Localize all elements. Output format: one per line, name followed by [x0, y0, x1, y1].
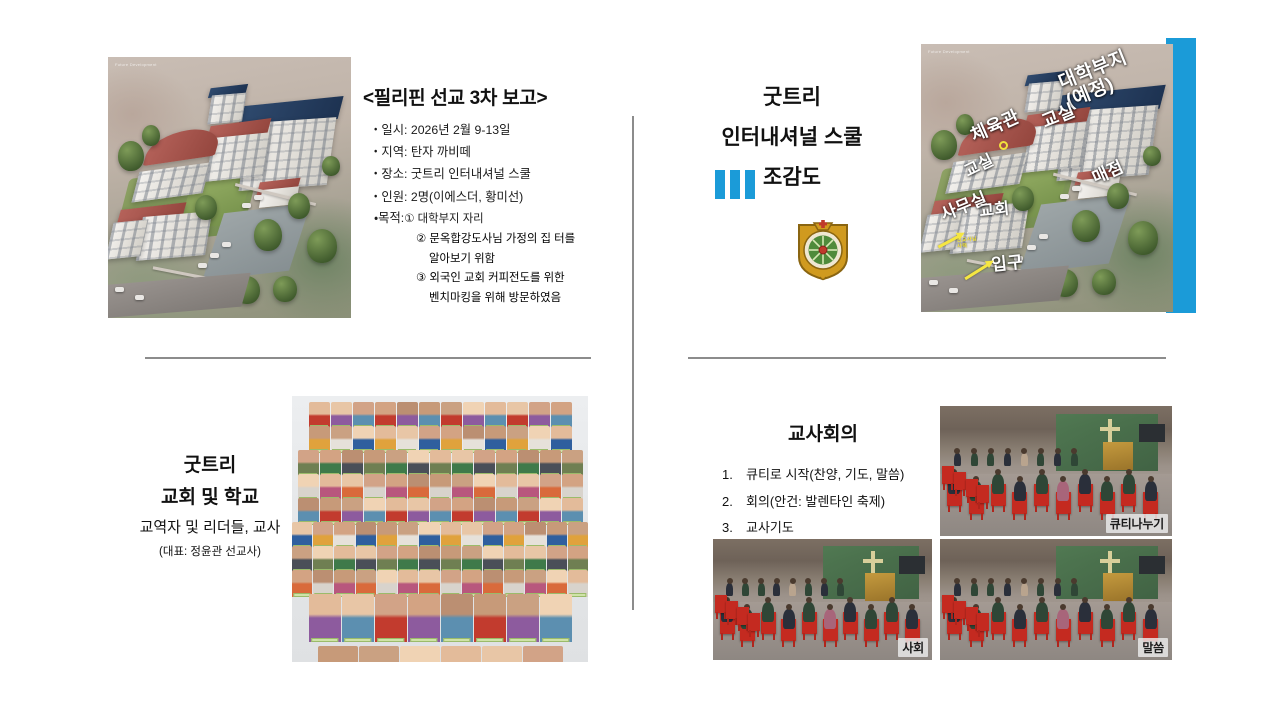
goodtree-title-line3: 조감도	[668, 158, 916, 198]
collage-face	[540, 450, 561, 477]
collage-face	[551, 402, 572, 429]
collage-face	[562, 450, 583, 477]
red-chair	[942, 595, 954, 613]
aerial-photo-plain: Future Development	[108, 57, 351, 318]
collage-face	[356, 570, 376, 597]
collage-face	[452, 498, 473, 525]
seated-person	[1004, 583, 1011, 596]
meeting-item-3-number: 3.	[722, 515, 746, 542]
meeting-item-2-number: 2.	[722, 489, 746, 516]
collage-face	[331, 426, 352, 453]
seated-person	[992, 602, 1004, 622]
collage-face	[463, 426, 484, 453]
photo-watermark: Future Development	[928, 49, 970, 54]
collage-face	[430, 474, 451, 501]
collage-face	[375, 402, 396, 429]
seated-person	[1036, 602, 1048, 622]
collage-face	[562, 474, 583, 501]
collage-face	[419, 426, 440, 453]
collage-face	[386, 474, 407, 501]
collage-face	[551, 426, 572, 453]
meeting-photo-word: 말씀	[940, 539, 1172, 660]
collage-face	[462, 570, 482, 597]
seated-person	[783, 609, 795, 629]
collage-face	[320, 474, 341, 501]
collage-row	[292, 426, 588, 453]
seated-person	[789, 583, 796, 596]
seated-person	[1079, 602, 1091, 622]
goodtree-title-line2: 인터내셔널 스쿨	[668, 118, 916, 158]
collage-face	[452, 450, 473, 477]
collage-face	[430, 450, 451, 477]
collage-face	[496, 498, 517, 525]
collage-face	[463, 402, 484, 429]
collage-face	[318, 646, 358, 662]
red-chair	[966, 479, 978, 497]
collage-face	[485, 402, 506, 429]
collage-face	[408, 594, 440, 642]
report-title: <필리핀 선교 3차 보고>	[363, 83, 547, 110]
collage-face	[507, 426, 528, 453]
seated-person	[758, 583, 765, 596]
collage-face	[547, 546, 567, 573]
collage-face	[507, 402, 528, 429]
collage-face	[377, 546, 397, 573]
triple-bar-icon	[715, 170, 755, 199]
collage-face	[540, 498, 561, 525]
seated-person	[742, 583, 749, 596]
collage-face	[547, 522, 567, 549]
photo-caption-qt: 큐티나누기	[1106, 514, 1168, 533]
seated-person	[1079, 474, 1091, 494]
report-item-place: ・장소: 굿트리 인터내셔널 스쿨	[374, 163, 624, 185]
collage-face	[525, 570, 545, 597]
collage-face	[364, 498, 385, 525]
seated-person	[886, 602, 898, 622]
horizontal-divider-right	[688, 357, 1166, 359]
map-marker-ring-icon	[999, 141, 1008, 150]
collage-face	[320, 450, 341, 477]
seated-person	[1057, 609, 1069, 629]
collage-face	[398, 570, 418, 597]
collage-face	[313, 546, 333, 573]
seated-person	[803, 602, 815, 622]
collage-face	[400, 646, 440, 662]
church-school-line3: 교역자 및 리더들, 교사	[110, 514, 310, 542]
collage-face	[483, 522, 503, 549]
seated-person	[987, 583, 994, 596]
seated-person	[844, 602, 856, 622]
vertical-divider	[632, 116, 634, 610]
seated-person	[773, 583, 780, 596]
collage-face	[342, 474, 363, 501]
collage-face	[441, 522, 461, 549]
red-chair	[954, 601, 966, 619]
seated-person	[992, 474, 1004, 494]
collage-face	[547, 570, 567, 597]
photo-watermark: Future Development	[115, 62, 157, 67]
bullet-icon: ・	[374, 146, 377, 157]
collage-face	[386, 450, 407, 477]
collage-face	[504, 522, 524, 549]
church-school-line2: 교회 및 학교	[110, 482, 310, 514]
meeting-item-1-number: 1.	[722, 462, 746, 489]
collage-face	[441, 646, 481, 662]
collage-face	[353, 426, 374, 453]
photo-caption-word: 말씀	[1138, 638, 1168, 657]
collage-face	[356, 546, 376, 573]
meeting-photo-qt: 큐티나누기	[940, 406, 1172, 536]
seated-person	[987, 453, 994, 466]
collage-face	[334, 546, 354, 573]
collage-face	[334, 522, 354, 549]
collage-face	[408, 450, 429, 477]
meeting-photo-host: 사회	[713, 539, 932, 660]
collage-face	[540, 594, 572, 642]
collage-face	[483, 570, 503, 597]
church-school-line4: (대표: 정윤관 선교사)	[110, 542, 310, 562]
group-collage-photo	[292, 396, 588, 662]
report-item-region: ・지역: 탄자 까비떼	[374, 141, 624, 163]
collage-face	[507, 594, 539, 642]
collage-face	[540, 474, 561, 501]
collage-face	[523, 646, 563, 662]
red-chair	[748, 613, 760, 631]
purpose-label: ・목적:	[374, 208, 404, 230]
meeting-title: 교사회의	[788, 419, 858, 446]
collage-face	[496, 474, 517, 501]
collage-face	[474, 498, 495, 525]
seated-person	[1037, 583, 1044, 596]
seated-person	[726, 583, 733, 596]
collage-face	[441, 546, 461, 573]
meeting-item-3-text: 교사기도	[746, 515, 794, 542]
seated-person	[1014, 609, 1026, 629]
collage-face	[482, 646, 522, 662]
collage-face	[359, 646, 399, 662]
purpose-item-3: ③ 외국인 교회 커피전도를 위한	[374, 269, 624, 289]
report-item-people: ・인원: 2명(이에스더, 황미선)	[374, 186, 624, 208]
collage-row	[292, 474, 588, 501]
purpose-item-3-cont: 벤치마킹을 위해 방문하였음	[374, 289, 624, 309]
collage-face	[353, 402, 374, 429]
collage-face	[562, 498, 583, 525]
report-item-date: ・일시: 2026년 2월 9-13일	[374, 119, 624, 141]
collage-face	[525, 546, 545, 573]
collage-face	[568, 570, 588, 597]
collage-face	[397, 426, 418, 453]
collage-face	[377, 522, 397, 549]
collage-face	[309, 426, 330, 453]
red-chair	[954, 472, 966, 490]
collage-row	[292, 498, 588, 525]
collage-face	[356, 522, 376, 549]
collage-face	[483, 546, 503, 573]
collage-face	[386, 498, 407, 525]
collage-face	[364, 474, 385, 501]
collage-face	[313, 522, 333, 549]
collage-face	[504, 570, 524, 597]
seated-person	[837, 583, 844, 596]
collage-face	[309, 402, 330, 429]
collage-name-tag	[377, 638, 405, 642]
goodtree-title-line1: 굿트리	[668, 78, 916, 118]
collage-face	[298, 450, 319, 477]
seated-person	[1037, 453, 1044, 466]
collage-face	[518, 450, 539, 477]
collage-face	[331, 402, 352, 429]
collage-face	[430, 498, 451, 525]
collage-face	[334, 570, 354, 597]
seated-person	[954, 453, 961, 466]
collage-face	[496, 450, 517, 477]
seated-person	[1054, 453, 1061, 466]
collage-name-tag	[410, 638, 438, 642]
collage-name-tag	[476, 638, 504, 642]
collage-name-tag	[542, 638, 570, 642]
purpose-item-2-cont: 알아보기 위함	[374, 250, 624, 270]
seated-person	[954, 583, 961, 596]
seated-person	[762, 602, 774, 622]
collage-face	[518, 498, 539, 525]
seated-person	[971, 583, 978, 596]
collage-face	[441, 594, 473, 642]
seated-person	[1004, 453, 1011, 466]
seated-person	[1101, 609, 1113, 629]
collage-face	[298, 498, 319, 525]
map-label-church: 교회	[978, 194, 1011, 221]
collage-face	[397, 402, 418, 429]
seated-person	[1036, 474, 1048, 494]
seated-person	[1071, 583, 1078, 596]
collage-face	[309, 594, 341, 642]
collage-face	[419, 570, 439, 597]
meeting-item-1-text: 큐티로 시작(찬양, 기도, 말씀)	[746, 462, 904, 489]
collage-face	[398, 522, 418, 549]
collage-name-tag	[311, 638, 339, 642]
horizontal-divider-left	[145, 357, 591, 359]
collage-face	[408, 474, 429, 501]
collage-face	[441, 426, 462, 453]
seated-person	[1145, 481, 1157, 501]
collage-face	[292, 570, 312, 597]
collage-face	[474, 450, 495, 477]
seated-person	[1054, 583, 1061, 596]
collage-face	[462, 546, 482, 573]
collage-face	[529, 402, 550, 429]
collage-face	[298, 474, 319, 501]
collage-face	[568, 522, 588, 549]
seated-person	[1123, 474, 1135, 494]
collage-face	[474, 594, 506, 642]
collage-face	[441, 402, 462, 429]
collage-face	[342, 498, 363, 525]
collage-face	[342, 594, 374, 642]
collage-face	[485, 426, 506, 453]
seated-person	[1021, 453, 1028, 466]
presentation-slide: Future Development <필리핀 선교 3차 보고> ・일시: 2…	[0, 0, 1277, 719]
collage-face	[452, 474, 473, 501]
seated-person	[1145, 609, 1157, 629]
goodtree-title: 굿트리 인터내셔널 스쿨 조감도	[668, 78, 916, 198]
seated-person	[821, 583, 828, 596]
seated-person	[906, 609, 918, 629]
collage-face	[408, 498, 429, 525]
meeting-item-2: 2. 회의(안건: 발렌타인 축제)	[722, 489, 947, 516]
report-item-purpose: ・목적: ① 대학부지 자리	[374, 208, 624, 230]
collage-face	[313, 570, 333, 597]
red-chair	[977, 613, 989, 631]
collage-row	[292, 402, 588, 429]
seated-person	[824, 609, 836, 629]
meeting-item-1: 1. 큐티로 시작(찬양, 기도, 말씀)	[722, 462, 947, 489]
meeting-agenda-list: 1. 큐티로 시작(찬양, 기도, 말씀) 2. 회의(안건: 발렌타인 축제)…	[722, 462, 947, 542]
bullet-icon: ・	[374, 124, 377, 135]
collage-row	[292, 450, 588, 477]
seated-person	[971, 453, 978, 466]
collage-face	[375, 426, 396, 453]
collage-face	[398, 546, 418, 573]
collage-face	[518, 474, 539, 501]
meeting-item-2-text: 회의(안건: 발렌타인 축제)	[746, 489, 885, 516]
collage-face	[462, 522, 482, 549]
seated-person	[1021, 583, 1028, 596]
red-chair	[942, 466, 954, 484]
collage-face	[504, 546, 524, 573]
collage-face	[441, 570, 461, 597]
seated-person	[805, 583, 812, 596]
collage-name-tag	[344, 638, 372, 642]
meeting-item-3: 3. 교사기도	[722, 515, 947, 542]
church-school-caption: 굿트리 교회 및 학교 교역자 및 리더들, 교사 (대표: 정윤관 선교사)	[110, 450, 310, 562]
bullet-icon: ・	[374, 191, 377, 202]
collage-face	[292, 522, 312, 549]
collage-face	[342, 450, 363, 477]
collage-face	[419, 546, 439, 573]
collage-row	[292, 594, 588, 642]
red-chair	[966, 607, 978, 625]
collage-face	[474, 474, 495, 501]
church-school-line1: 굿트리	[110, 450, 310, 482]
collage-face	[529, 426, 550, 453]
collage-face	[568, 546, 588, 573]
photo-caption-host: 사회	[898, 638, 928, 657]
collage-row	[292, 570, 588, 597]
school-emblem-icon	[794, 219, 852, 281]
purpose-item-1: ① 대학부지 자리	[404, 208, 483, 230]
map-label-entrance: 입구	[990, 247, 1025, 275]
collage-face	[292, 546, 312, 573]
collage-face	[419, 522, 439, 549]
aerial-photo-labeled: Future Development 대학부지 (예정) 교실 체육관 교실 매…	[921, 44, 1173, 312]
collage-face	[377, 570, 397, 597]
seated-person	[1101, 481, 1113, 501]
collage-name-tag	[443, 638, 471, 642]
purpose-item-2: ② 문옥합강도사님 가정의 집 터를	[374, 230, 624, 250]
collage-face	[364, 450, 385, 477]
seated-person	[1057, 481, 1069, 501]
collage-face	[375, 594, 407, 642]
seated-person	[865, 609, 877, 629]
seated-person	[1014, 481, 1026, 501]
seated-person	[1123, 602, 1135, 622]
collage-row	[292, 522, 588, 549]
collage-name-tag	[509, 638, 537, 642]
collage-face	[419, 402, 440, 429]
collage-row	[292, 546, 588, 573]
red-chair	[977, 485, 989, 503]
collage-row	[292, 646, 588, 662]
collage-face	[320, 498, 341, 525]
bullet-icon: ・	[374, 168, 377, 179]
seated-person	[1071, 453, 1078, 466]
report-detail-list: ・일시: 2026년 2월 9-13일 ・지역: 탄자 까비떼 ・장소: 굿트리…	[374, 119, 624, 308]
collage-face	[525, 522, 545, 549]
